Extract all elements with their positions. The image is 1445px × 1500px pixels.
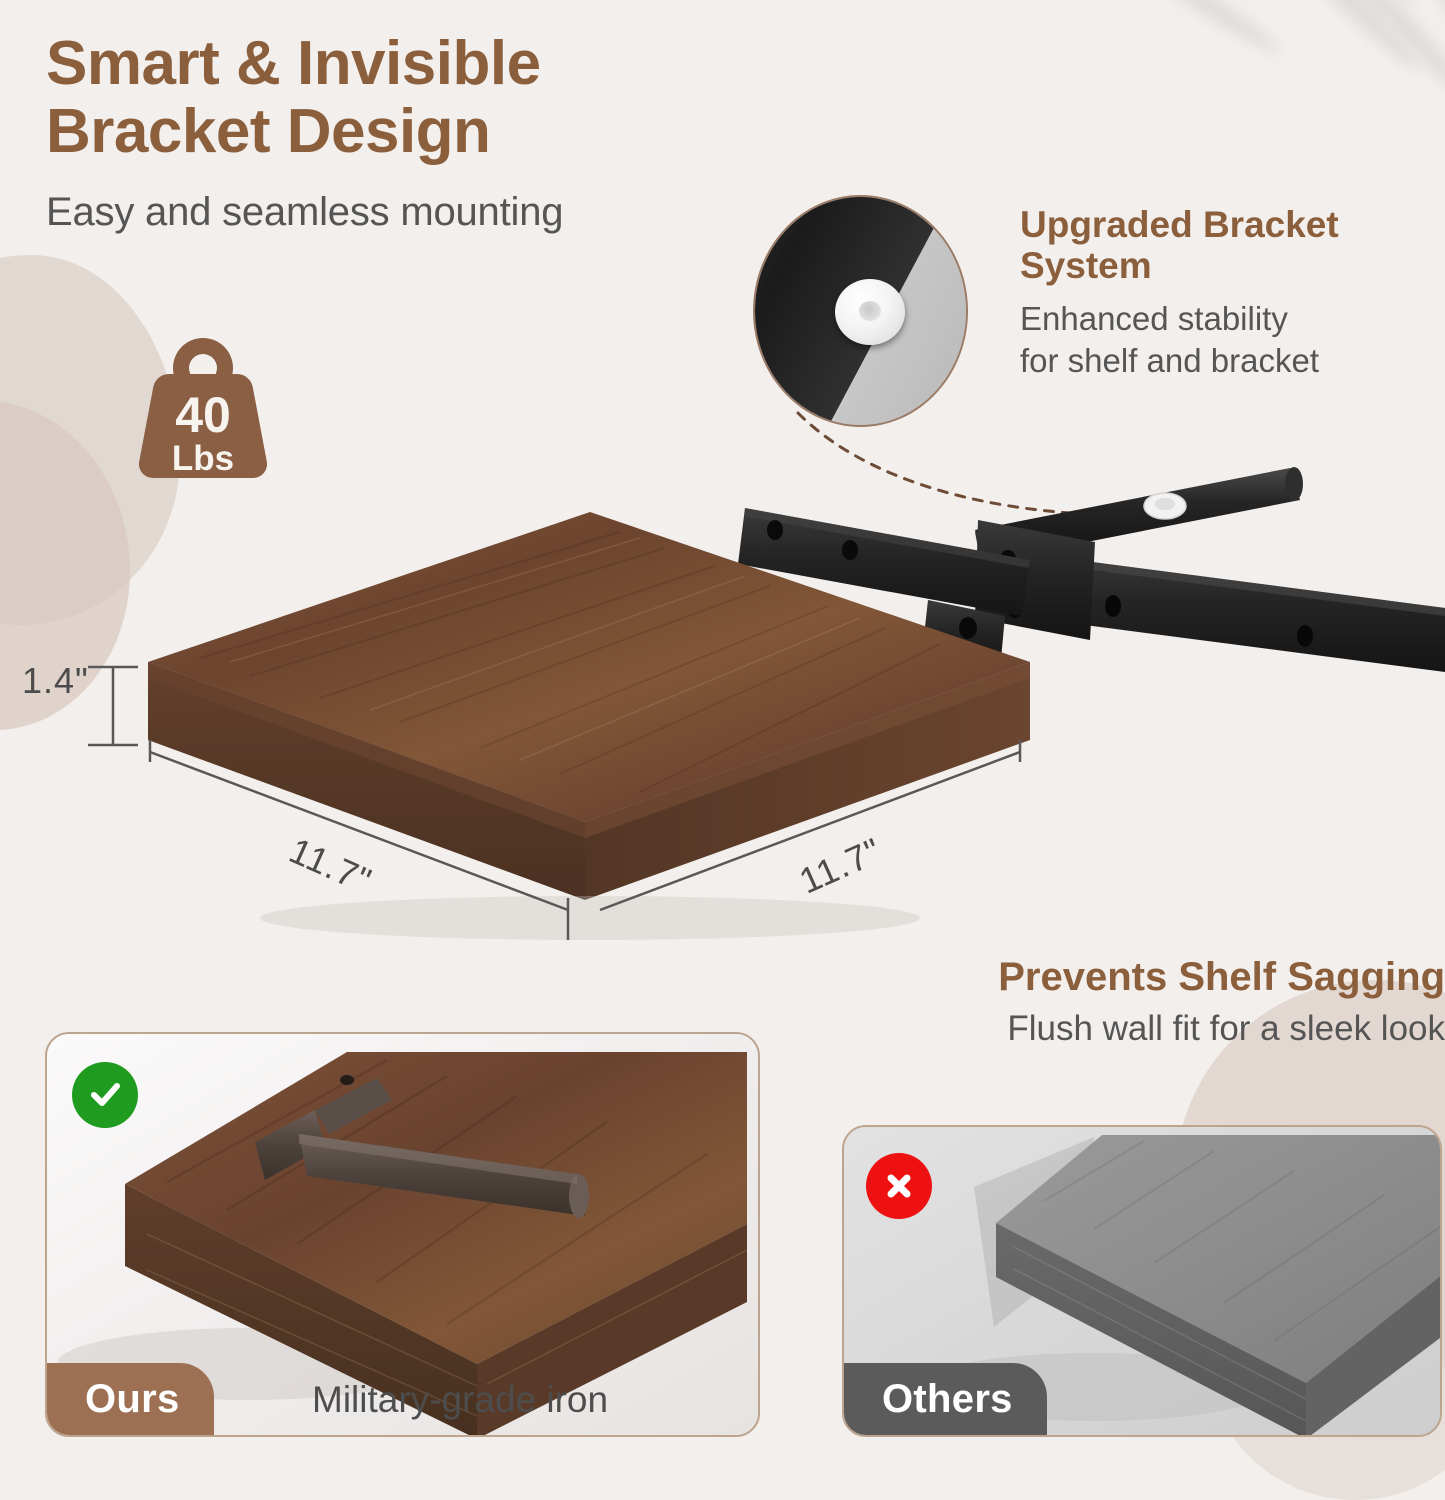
callout-title: Upgraded Bracket System	[1020, 205, 1445, 286]
page-subtitle: Easy and seamless mounting	[46, 190, 806, 235]
white-cap-icon	[835, 279, 905, 345]
magnifier-circle-icon	[753, 195, 968, 427]
header-block: Smart & Invisible Bracket Design Easy an…	[46, 30, 806, 235]
infographic-canvas: Smart & Invisible Bracket Design Easy an…	[0, 0, 1445, 1445]
callout-body: Enhanced stability for shelf and bracket	[1020, 298, 1445, 381]
comparison-panel-ours: Ours Military-grade iron	[45, 1032, 760, 1437]
callout-body-line1: Enhanced stability	[1020, 298, 1445, 339]
page-title-line2: Bracket Design	[46, 98, 806, 166]
sagging-subtitle: Flush wall fit for a sleek look	[855, 1009, 1445, 1049]
tab-others-label: Others	[882, 1377, 1013, 1422]
ours-caption: Military-grade iron	[312, 1379, 608, 1421]
callout-text-block: Upgraded Bracket System Enhanced stabili…	[1020, 205, 1445, 381]
sagging-title: Prevents Shelf Sagging	[855, 955, 1445, 999]
tab-ours-label: Ours	[85, 1377, 180, 1422]
callout-title-line2: System	[1020, 246, 1445, 287]
page-title-line1: Smart & Invisible	[46, 30, 806, 98]
comparison-panel-others: Others	[842, 1125, 1442, 1437]
tab-ours: Ours	[47, 1363, 214, 1435]
weight-value: 40	[175, 387, 231, 443]
red-x-icon	[866, 1153, 932, 1219]
sagging-text-block: Prevents Shelf Sagging Flush wall fit fo…	[855, 955, 1445, 1049]
page-title: Smart & Invisible Bracket Design	[46, 30, 806, 166]
callout-body-line2: for shelf and bracket	[1020, 340, 1445, 381]
callout-title-line1: Upgraded Bracket	[1020, 205, 1445, 246]
white-cap-hole	[859, 301, 881, 321]
dimension-height-label: 1.4"	[22, 660, 89, 702]
white-cap-on-bracket	[1144, 493, 1186, 519]
green-check-icon	[72, 1062, 138, 1128]
tab-others: Others	[844, 1363, 1047, 1435]
hero-illustration	[0, 440, 1445, 970]
